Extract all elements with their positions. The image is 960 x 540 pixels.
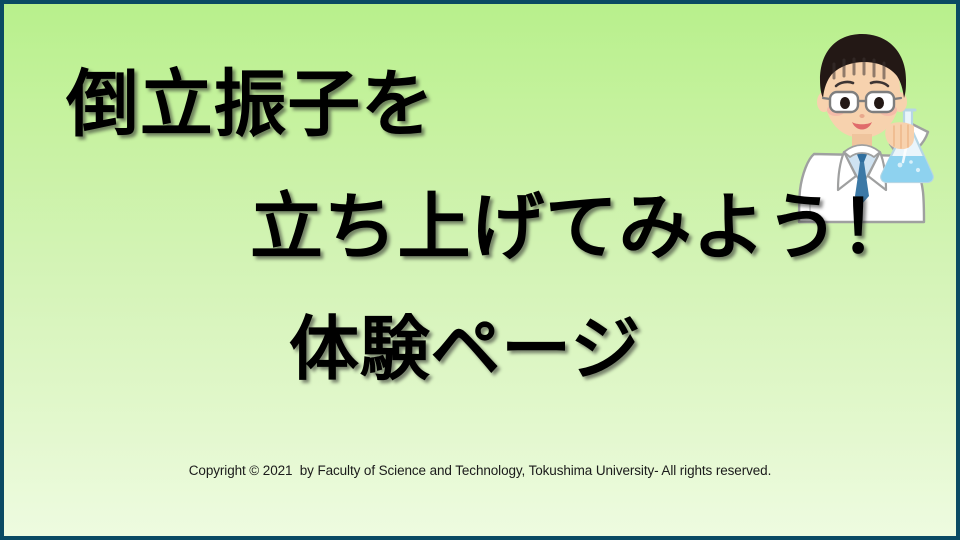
copyright-notice: Copyright © 2021 by Faculty of Science a…: [4, 463, 956, 478]
title-line-2: 立ち上げてみよう！: [4, 189, 956, 268]
slide-title: 倒立振子を 立ち上げてみよう！ 体験ページ: [4, 66, 956, 387]
slide-canvas: 倒立振子を 立ち上げてみよう！ 体験ページ Copyright © 2021 b…: [0, 0, 960, 540]
title-line-3: 体験ページ: [4, 312, 956, 388]
title-line-1: 倒立振子を: [4, 66, 956, 145]
